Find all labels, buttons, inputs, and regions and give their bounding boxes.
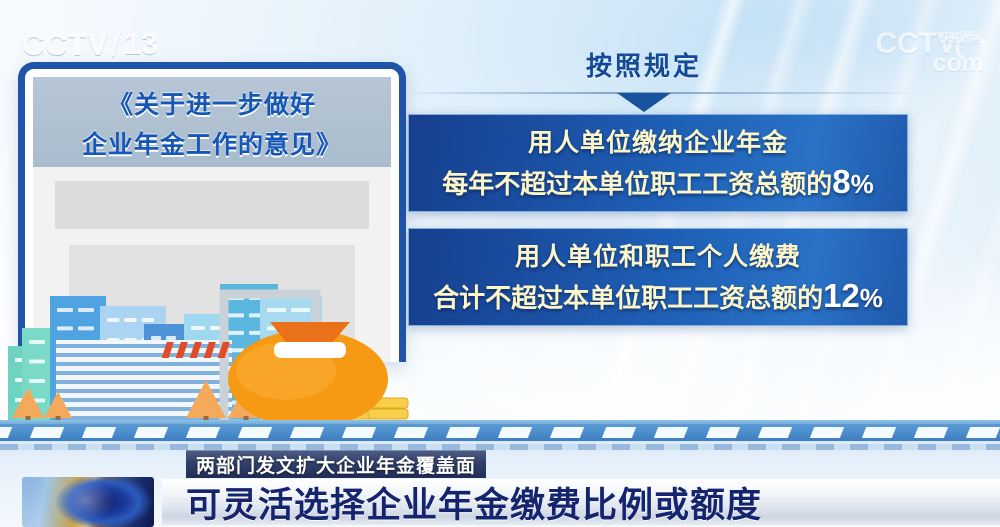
road-dash [602,427,636,438]
road-dash [238,427,272,438]
rule-box-employer: 用人单位缴纳企业年金 每年不超过本单位职工工资总额的8% [408,114,908,212]
watermark-cn-text: 央视网 [940,27,982,46]
road-dash [706,427,740,438]
road-dash [550,427,584,438]
policy-title-line-2: 企业年金工作的意见》 [82,125,342,161]
policy-title-line-1: 《关于进一步做好 [108,85,316,121]
road-dash [30,427,64,438]
rule-1-line-1: 用人单位缴纳企业年金 [528,123,788,159]
road-dash [342,427,376,438]
road-dash [498,427,532,438]
rule-1-text: 每年不超过本单位职工工资总额的 [442,169,832,199]
road-dash [758,427,792,438]
cctv-channel-number: 13 [124,28,158,62]
lower-third-kicker: 两部门发文扩大企业年金覆盖面 [186,450,486,478]
lower-third-kicker-text: 两部门发文扩大企业年金覆盖面 [196,451,476,478]
lower-third-headline-text: 可灵活选择企业年金缴费比例或额度 [186,477,762,527]
road-dash [966,427,1000,438]
broadcast-frame: CCTV / 13 新闻 CCTV 央视网 com 《关于进一步做好 企业年金工… [0,0,1000,527]
policy-document-title: 《关于进一步做好 企业年金工作的意见》 [33,77,391,167]
cctv-logo-slash: / [111,26,121,64]
road-strip [0,424,1000,441]
road-dash [82,427,116,438]
policy-document-body [33,167,391,362]
rule-1-number: 8 [832,163,850,200]
rule-1-line-2: 每年不超过本单位职工工资总额的8% [442,163,874,201]
road-dash [0,427,12,438]
policy-body-placeholder-bar [55,181,369,229]
road-dash [914,427,948,438]
road-dash [862,427,896,438]
rule-box-combined: 用人单位和职工个人缴费 合计不超过本单位职工工资总额的12% [408,228,908,326]
lower-third-headline: 可灵活选择企业年金缴费比例或额度 [162,479,1000,525]
road-dash [810,427,844,438]
lower-third-swirl-graphic [22,477,154,527]
cctv-wordmark: CCTV [22,27,108,63]
watermark-com-text: com [933,49,984,78]
road-dash [654,427,688,438]
policy-document-inner: 《关于进一步做好 企业年金工作的意见》 [33,77,391,362]
rules-heading: 按照规定 [586,46,702,83]
policy-body-placeholder-block [69,245,355,362]
road-dash [290,427,324,438]
cctv-logo-text: CCTV / 13 [22,26,172,64]
road-dash [134,427,168,438]
rule-2-number: 12 [823,277,860,314]
rule-1-percent: % [851,169,874,199]
cctv-com-watermark: CCTV 央视网 com [796,27,986,79]
road-dash [394,427,428,438]
road-dash [446,427,480,438]
rule-2-line-1: 用人单位和职工个人缴费 [515,237,801,273]
chevron-down-icon [617,93,671,112]
lower-third-tick-strip [0,444,1000,450]
rule-2-line-2: 合计不超过本单位职工工资总额的12% [433,277,883,315]
rule-2-percent: % [860,283,883,313]
road-dash [186,427,220,438]
rule-2-text: 合计不超过本单位职工工资总额的 [433,283,823,313]
policy-document-card: 《关于进一步做好 企业年金工作的意见》 [18,62,406,362]
